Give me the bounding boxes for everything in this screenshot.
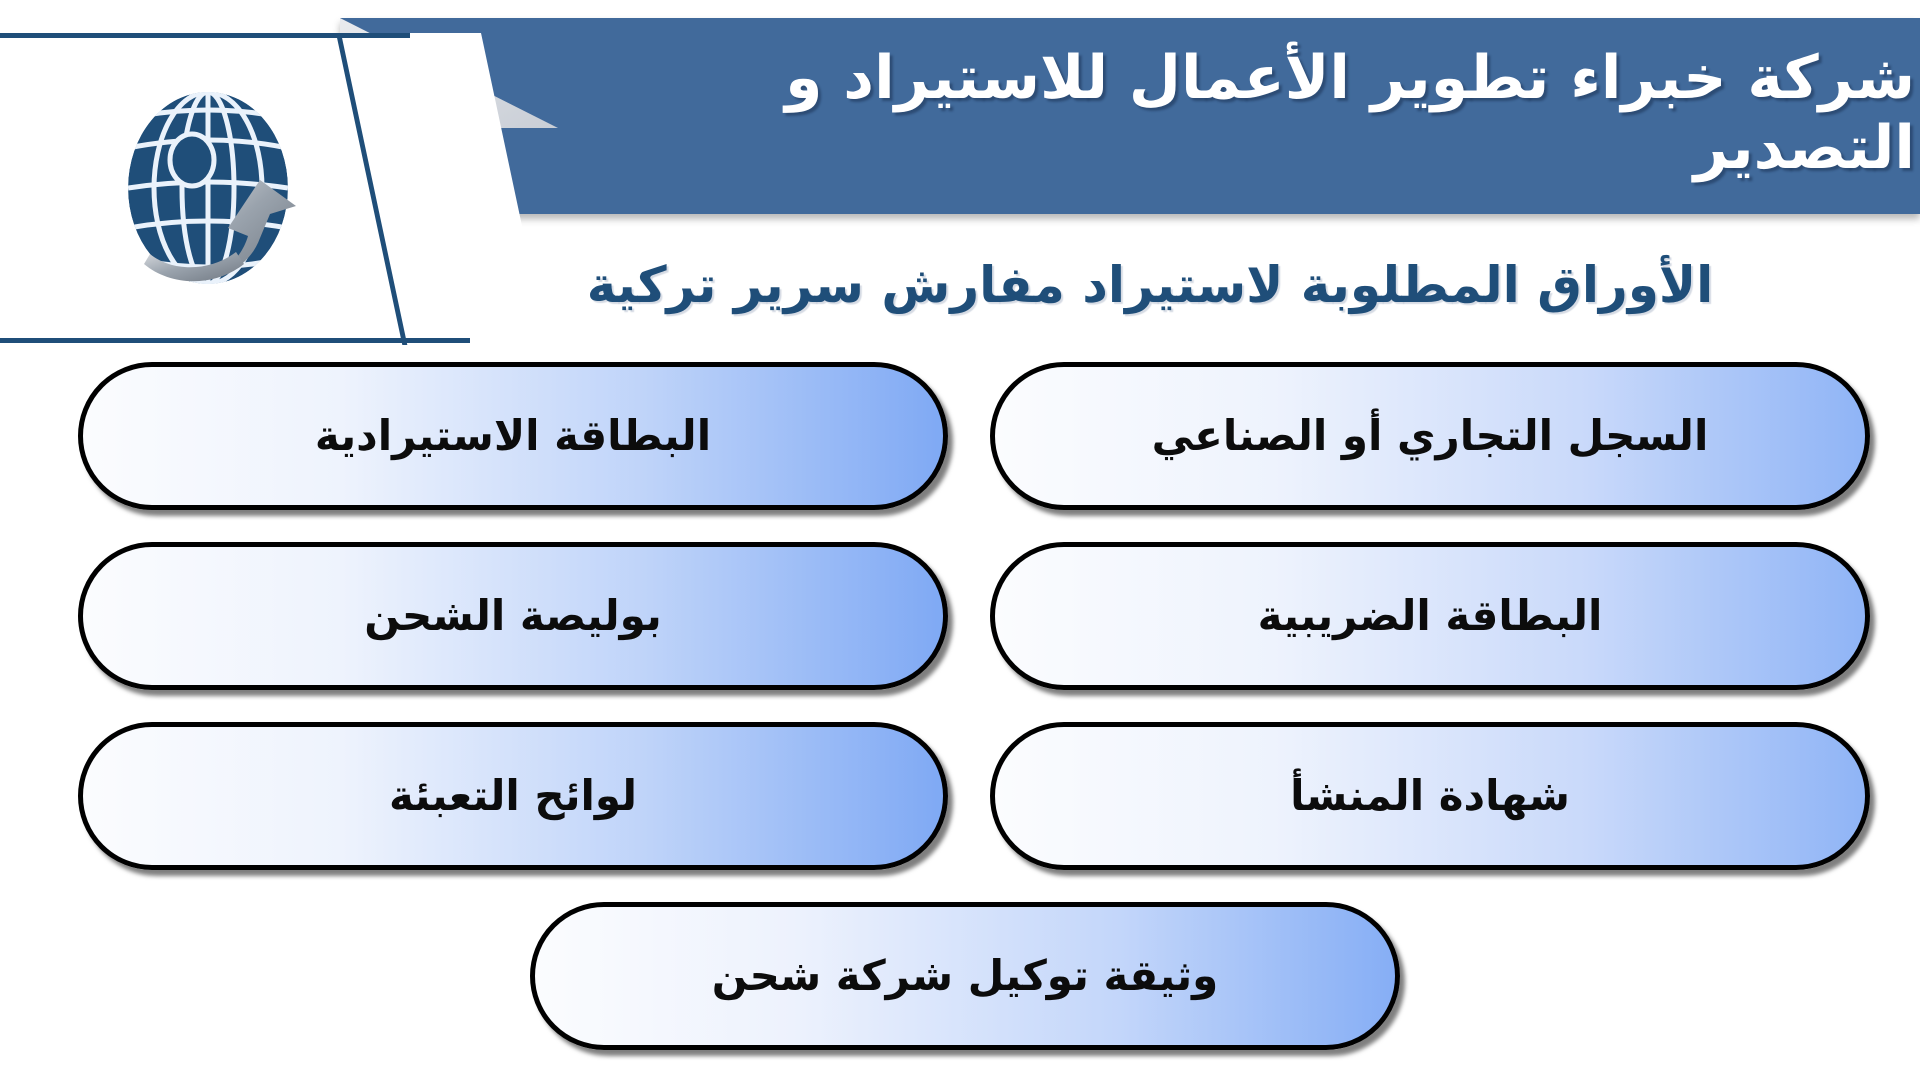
document-label: البطاقة الضريبية [1232, 593, 1629, 639]
company-title: شركة خبراء تطوير الأعمال للاستيراد و الت… [560, 18, 1915, 214]
document-label: بوليصة الشحن [338, 593, 687, 639]
logo-panel-bottom-border [0, 338, 470, 343]
document-pill[interactable]: شهادة المنشأ [990, 722, 1870, 870]
document-pill[interactable]: لوائح التعبئة [78, 722, 948, 870]
document-pill[interactable]: السجل التجاري أو الصناعي [990, 362, 1870, 510]
globe-arrow-icon [110, 88, 320, 303]
document-label: البطاقة الاستيرادية [289, 413, 737, 459]
document-label: وثيقة توكيل شركة شحن [686, 953, 1244, 999]
document-label: لوائح التعبئة [363, 773, 663, 819]
document-pill[interactable]: وثيقة توكيل شركة شحن [530, 902, 1400, 1050]
document-pill[interactable]: البطاقة الاستيرادية [78, 362, 948, 510]
page-subtitle: الأوراق المطلوبة لاستيراد مفارش سرير ترك… [400, 246, 1900, 324]
documents-grid: السجل التجاري أو الصناعي البطاقة الاستير… [0, 362, 1920, 882]
document-pill[interactable]: البطاقة الضريبية [990, 542, 1870, 690]
document-pill[interactable]: بوليصة الشحن [78, 542, 948, 690]
document-label: شهادة المنشأ [1264, 773, 1596, 819]
logo-panel-top-border [0, 33, 410, 38]
document-label: السجل التجاري أو الصناعي [1126, 413, 1735, 459]
